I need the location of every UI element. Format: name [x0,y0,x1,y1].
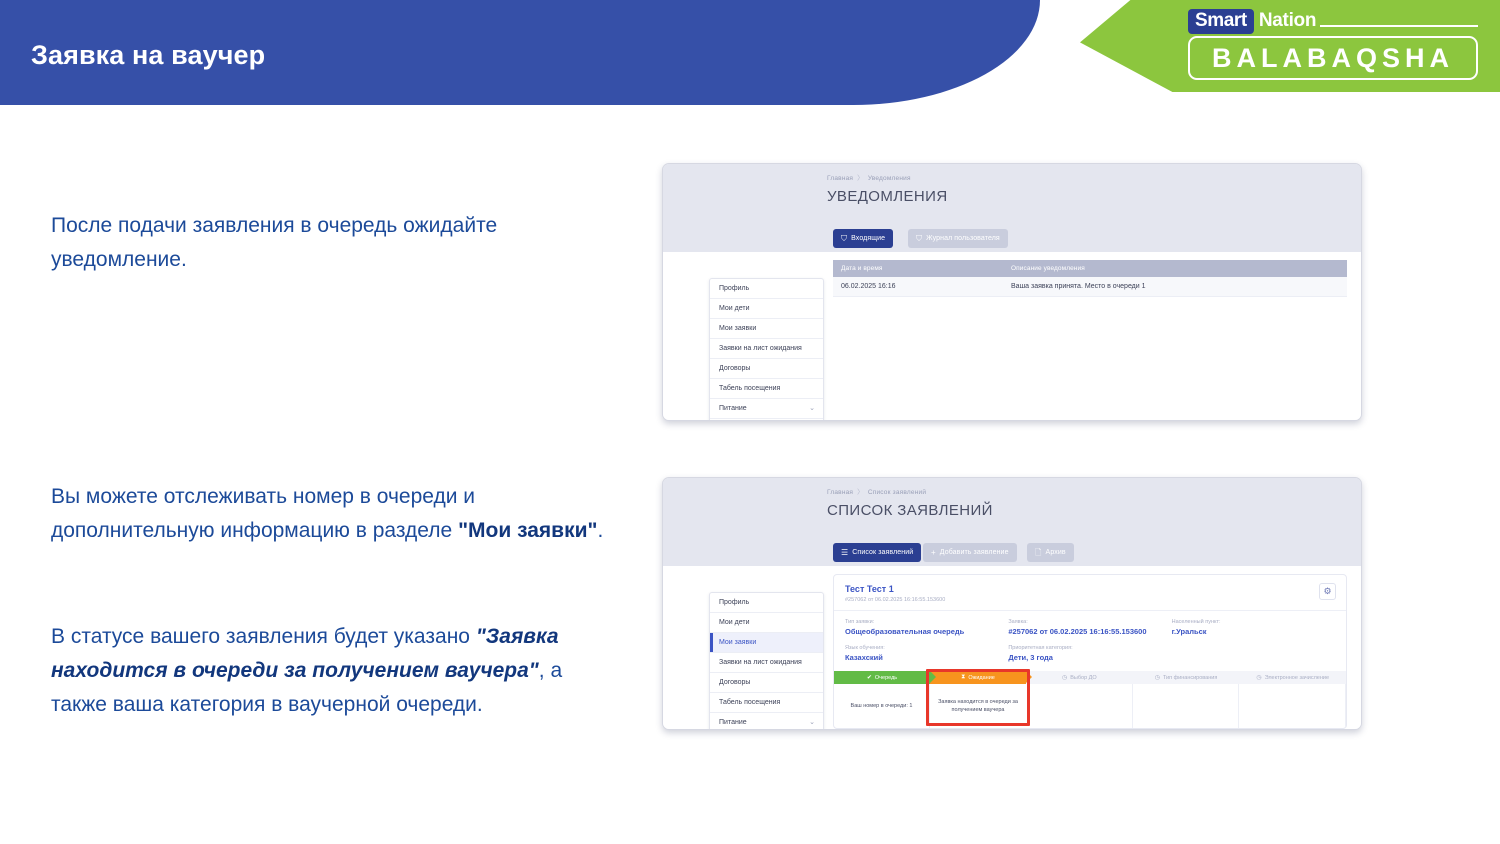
app-body-notifications: ⛉ Входящие ⛉ Журнал пользователя Дата и … [663,226,1361,420]
sidebar-item-label: Питание [719,718,747,727]
column-description: Описание уведомления [1003,260,1347,277]
paragraph-2-lead: Вы можете отслеживать номер в очереди и … [51,485,475,542]
step-funding-type: ◷ Тип финансирования [1133,671,1240,684]
notifications-table: Дата и время Описание уведомления 06.02.… [833,260,1347,297]
sidebar-item-contracts[interactable]: Договоры [710,359,823,379]
breadcrumb: Главная〉Список заявлений [827,486,926,496]
step-waiting: ⧗ Ожидание [930,671,1026,684]
paragraph-1-text: После подачи заявления в очередь ожидайт… [51,214,497,271]
field-application-number: Заявка: #257062 от 06.02.2025 16:16:55.1… [1008,619,1171,636]
app-body-applications: ☰ Список заявлений + Добавить заявление … [663,540,1361,729]
table-row[interactable]: 06.02.2025 16:16 Ваша заявка принята. Ме… [833,277,1347,297]
sidebar-item-label: Договоры [719,364,750,373]
clock-icon: ◷ [1155,674,1160,681]
breadcrumb-current: Уведомления [868,175,911,182]
logo-top-row: Smart Nation [1188,8,1478,34]
step-value-queue: Ваш номер в очереди: 1 [834,684,930,728]
field-value: Казахский [845,653,1008,662]
tab-archive-label: Архив [1046,549,1066,556]
logo-balabaqsha-text: BALABAQSHA [1212,43,1454,74]
check-circle-icon: ✔ [867,674,872,681]
sidebar-item-forecast[interactable]: Прогноз по распределению мест [710,419,823,421]
sidebar-item-my-applications[interactable]: Мои заявки [710,319,823,339]
step-value-electronic-enrollment [1239,684,1346,728]
breadcrumb: Главная〉Уведомления [827,172,911,182]
paragraph-3-lead: В статусе вашего заявления будет указано [51,625,476,648]
step-value-funding-type [1133,684,1240,728]
tab-add-application-label: Добавить заявление [940,549,1009,556]
app-window-applications: Главная〉Список заявлений СПИСОК ЗАЯВЛЕНИ… [663,478,1361,729]
field-label: Тип заявки: [845,619,1008,625]
child-name: Тест Тест 1 [845,584,1335,594]
step-label: Электронное зачисление [1265,675,1329,681]
tab-archive[interactable]: 🗋 Архив [1027,543,1074,562]
step-label: Ожидание [968,675,994,681]
logo-balabaqsha-box: BALABAQSHA [1188,36,1478,80]
table-header-row: Дата и время Описание уведомления [833,260,1347,277]
application-card-header: Тест Тест 1 #257062 от 06.02.2025 16:16:… [834,575,1346,611]
sidebar-item-label: Табель посещения [719,384,780,393]
tabbar-notifications: ⛉ Входящие ⛉ Журнал пользователя [663,226,1361,252]
sidebar-item-waiting-list[interactable]: Заявки на лист ожидания [710,339,823,359]
application-fields-row-2: Язык обучения: Казахский Приоритетная ка… [834,638,1346,671]
application-card: Тест Тест 1 #257062 от 06.02.2025 16:16:… [833,574,1347,729]
field-language: Язык обучения: Казахский [845,645,1008,662]
sidebar-item-my-children[interactable]: Мои дети [710,613,823,633]
status-stepper-values: Ваш номер в очереди: 1 Заявка находится … [834,684,1346,728]
step-label: Очередь [875,675,897,681]
document-icon: 🗋 [1035,549,1042,557]
plus-icon: + [931,549,936,557]
logo-nation-text: Nation [1259,10,1316,32]
tab-user-log-label: Журнал пользователя [926,235,1000,242]
step-choose-kindergarten: ◷ Выбор ДО [1026,671,1133,684]
section-title: СПИСОК ЗАЯВЛЕНИЙ [827,502,993,519]
user-icon: ⛉ [841,235,847,243]
sidebar-item-label: Мои дети [719,618,750,627]
application-fields-row-1: Тип заявки: Общеобразовательная очередь … [834,611,1346,638]
gear-icon[interactable]: ⚙ [1319,583,1336,600]
app-header-notifications: Главная〉Уведомления УВЕДОМЛЕНИЯ [663,164,1361,226]
step-electronic-enrollment: ◷ Электронное зачисление [1239,671,1346,684]
tab-incoming-label: Входящие [851,235,885,242]
paragraph-2: Вы можете отслеживать номер в очереди и … [51,480,621,548]
column-datetime: Дата и время [833,260,1003,277]
field-label: Населенный пункт: [1172,619,1335,625]
field-label: Язык обучения: [845,645,1008,651]
breadcrumb-separator-icon: 〉 [857,489,864,496]
screenshot-application-list: Главная〉Список заявлений СПИСОК ЗАЯВЛЕНИ… [662,477,1362,730]
paragraph-2-tail: . [597,519,603,542]
sidebar-item-meals[interactable]: Питание ⌄ [710,713,823,730]
field-priority-category: Приоритетная категория: Дети, 3 года [1008,645,1171,662]
field-label: Приоритетная категория: [1008,645,1171,651]
notifications-table-wrap: Дата и время Описание уведомления 06.02.… [833,260,1347,297]
field-value: г.Уральск [1172,627,1335,636]
application-reference: #257062 от 06.02.2025 16:16:55.153600 [845,597,1335,603]
list-icon: ☰ [841,549,848,557]
chevron-down-icon: ⌄ [809,404,815,413]
sidebar-item-label: Мои заявки [719,324,756,333]
sidebar-notifications: Профиль Мои дети Мои заявки Заявки на ли… [709,278,824,421]
paragraph-1: После подачи заявления в очередь ожидайт… [51,209,621,277]
field-value: #257062 от 06.02.2025 16:16:55.153600 [1008,627,1171,636]
sidebar-item-label: Профиль [719,598,749,607]
app-window-notifications: Главная〉Уведомления УВЕДОМЛЕНИЯ ⛉ Входящ… [663,164,1361,420]
screenshot-notifications: Главная〉Уведомления УВЕДОМЛЕНИЯ ⛉ Входящ… [662,163,1362,421]
logo-rule [1320,25,1478,27]
sidebar-item-attendance[interactable]: Табель посещения [710,693,823,713]
hourglass-icon: ⧗ [961,674,965,681]
field-value: Дети, 3 года [1008,653,1171,662]
field-label: Заявка: [1008,619,1171,625]
sidebar-item-contracts[interactable]: Договоры [710,673,823,693]
cell-datetime: 06.02.2025 16:16 [833,277,1003,297]
sidebar-item-my-applications[interactable]: Мои заявки [710,633,823,653]
sidebar-item-my-children[interactable]: Мои дети [710,299,823,319]
field-application-type: Тип заявки: Общеобразовательная очередь [845,619,1008,636]
sidebar-applications: Профиль Мои дети Мои заявки Заявки на ли… [709,592,824,730]
tab-application-list[interactable]: ☰ Список заявлений [833,543,921,562]
clock-icon: ◷ [1062,674,1067,681]
sidebar-item-label: Заявки на лист ожидания [719,658,802,667]
breadcrumb-separator-icon: 〉 [857,175,864,182]
brand-logo: Smart Nation BALABAQSHA [1188,8,1478,84]
clock-icon: ◷ [1256,674,1261,681]
sidebar-item-profile[interactable]: Профиль [710,279,823,299]
cell-description: Ваша заявка принята. Место в очереди 1 [1003,277,1347,297]
field-locality: Населенный пункт: г.Уральск [1172,619,1335,636]
step-value-choose-kindergarten [1026,684,1133,728]
step-label: Тип финансирования [1163,675,1217,681]
sidebar-item-label: Договоры [719,678,750,687]
tab-add-application[interactable]: + Добавить заявление [923,543,1017,562]
breadcrumb-current: Список заявлений [868,489,926,496]
breadcrumb-home[interactable]: Главная [827,175,853,182]
step-value-waiting: Заявка находится в очереди за получением… [930,684,1026,728]
step-queue: ✔ Очередь [834,671,930,684]
sidebar-item-label: Профиль [719,284,749,293]
step-label: Выбор ДО [1070,675,1096,681]
paragraph-3: В статусе вашего заявления будет указано… [51,620,621,722]
sidebar-item-label: Мои заявки [719,638,756,647]
section-title: УВЕДОМЛЕНИЯ [827,188,948,205]
sidebar-item-label: Табель посещения [719,698,780,707]
tab-user-log[interactable]: ⛉ Журнал пользователя [908,229,1008,248]
status-stepper: ✔ Очередь ⧗ Ожидание ◷ Выбор ДО ◷ [834,671,1346,684]
sidebar-item-label: Питание [719,404,747,413]
tab-application-list-label: Список заявлений [852,549,913,556]
sidebar-item-attendance[interactable]: Табель посещения [710,379,823,399]
page-title: Заявка на ваучер [31,40,265,71]
logo-smart-text: Smart [1188,9,1254,34]
field-spacer [1172,645,1335,662]
paragraph-2-bold: "Мои заявки" [458,519,597,542]
slide-page: Заявка на ваучер Smart Nation BALABAQSHA… [0,0,1500,844]
tabbar-applications: ☰ Список заявлений + Добавить заявление … [663,540,1361,566]
sidebar-item-label: Заявки на лист ожидания [719,344,802,353]
tab-incoming[interactable]: ⛉ Входящие [833,229,893,248]
slide-header: Заявка на ваучер Smart Nation BALABAQSHA [0,0,1500,115]
sidebar-item-waiting-list[interactable]: Заявки на лист ожидания [710,653,823,673]
chevron-down-icon: ⌄ [809,718,815,727]
sidebar-item-label: Мои дети [719,304,750,313]
breadcrumb-home[interactable]: Главная [827,489,853,496]
field-value: Общеобразовательная очередь [845,627,1008,636]
user-log-icon: ⛉ [916,235,922,243]
app-header-applications: Главная〉Список заявлений СПИСОК ЗАЯВЛЕНИ… [663,478,1361,540]
sidebar-item-meals[interactable]: Питание ⌄ [710,399,823,419]
sidebar-item-profile[interactable]: Профиль [710,593,823,613]
